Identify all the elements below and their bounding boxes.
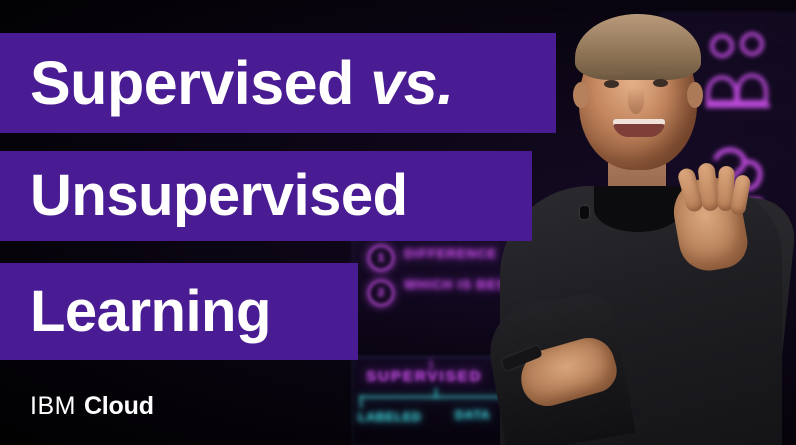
presenter-collar [594,186,682,232]
title-line-1-italic: vs. [370,49,453,117]
ibm-cloud-logo: IBM Cloud [30,392,154,421]
board-diagram-heading: SUPERVISED [366,368,482,385]
title-line-1-prefix: Supervised [30,49,370,117]
presenter-nose [628,88,644,114]
cloud-wordmark: Cloud [84,392,154,421]
board-diagram-label-left: LABELED [358,410,422,424]
board-bracket-center [435,388,437,398]
presenter-eye-left [604,80,619,88]
presenter-ear-right [687,82,703,108]
presenter-ear-left [573,82,589,108]
microphone-icon [580,206,589,219]
video-thumbnail: 1 DIFFERENCE 2 WHICH IS BEST FOR SUPERVI… [0,0,796,445]
title-bar-line-3: Learning [0,263,358,360]
board-bullet-number-2: 2 [368,280,394,306]
presenter-hair [575,14,701,80]
title-line-3: Learning [30,283,271,341]
board-bullet-number-1: 1 [368,245,394,271]
title-line-2: Unsupervised [30,167,408,225]
title-line-1: Supervised vs. [30,53,454,114]
ibm-wordmark: IBM [30,392,76,421]
presenter-mouth [613,119,665,137]
title-bar-line-2: Unsupervised [0,151,532,241]
presenter-eye-right [653,79,668,87]
title-bar-line-1: Supervised vs. [0,33,556,133]
board-bracket-left [360,396,362,408]
